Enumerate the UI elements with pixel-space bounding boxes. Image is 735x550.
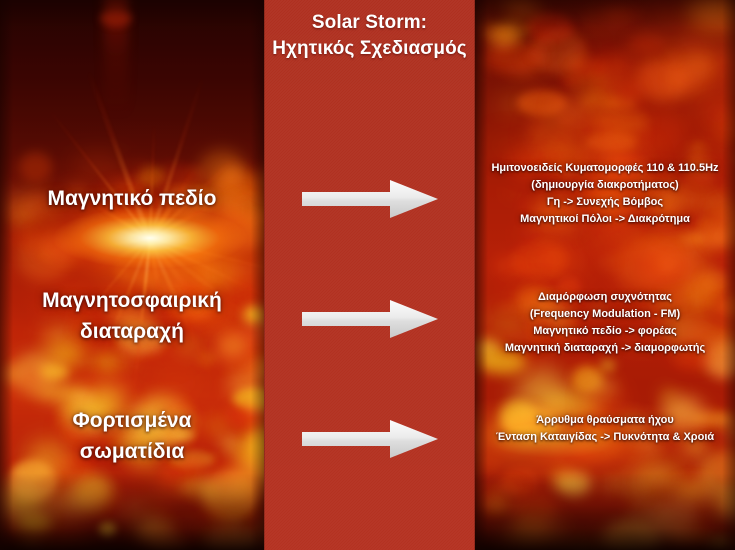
result-line: Ένταση Καταιγίδας -> Πυκνότητα & Χροιά: [475, 429, 735, 446]
result-line: (δημιουργία διακροτήματος): [475, 177, 735, 194]
result-line: Γη -> Συνεχής Βόμβος: [475, 194, 735, 211]
source-label-3-line2: σωματίδια: [0, 436, 264, 467]
result-line: Ημιτονοειδείς Κυματομορφές 110 & 110.5Hz: [475, 160, 735, 177]
source-label-3-line1: Φορτισμένα: [0, 405, 264, 436]
result-line: Άρρυθμα θραύσματα ήχου: [475, 412, 735, 429]
page-title-line2: Ηχητικός Σχεδιασμός: [264, 36, 475, 62]
result-block-2: Διαμόρφωση συχνότητας (Frequency Modulat…: [475, 289, 735, 357]
result-block-3: Άρρυθμα θραύσματα ήχου Ένταση Καταιγίδας…: [475, 412, 735, 446]
result-line: Μαγνητικοί Πόλοι -> Διακρότημα: [475, 211, 735, 228]
result-line: Μαγνητικό πεδίο -> φορέας: [475, 323, 735, 340]
result-line: Διαμόρφωση συχνότητας: [475, 289, 735, 306]
page-title-line1: Solar Storm:: [264, 10, 475, 36]
source-label-2-line2: διαταραχή: [0, 316, 264, 347]
right-vignette-edge: [475, 0, 735, 550]
source-label-2-line1: Μαγνητοσφαιρική: [0, 285, 264, 316]
source-label-1-line1: Μαγνητικό πεδίο: [48, 187, 217, 210]
page-title: Solar Storm: Ηχητικός Σχεδιασμός: [264, 10, 475, 62]
right-arrow-icon: [302, 418, 438, 460]
slide-root: Solar Storm: Ηχητικός Σχεδιασμός: [0, 0, 735, 550]
result-line: Μαγνητική διαταραχή -> διαμορφωτής: [475, 340, 735, 357]
right-arrow-icon: [302, 298, 438, 340]
result-line: (Frequency Modulation - FM): [475, 306, 735, 323]
source-label-2: Μαγνητοσφαιρική διαταραχή: [0, 285, 264, 347]
result-block-1: Ημιτονοειδείς Κυματομορφές 110 & 110.5Hz…: [475, 160, 735, 228]
left-vignette-edge: [0, 0, 264, 550]
source-label-1: Μαγνητικό πεδίο: [0, 183, 264, 214]
solar-surface-photo: [475, 0, 735, 550]
source-label-3: Φορτισμένα σωματίδια: [0, 405, 264, 467]
right-arrow-icon: [302, 178, 438, 220]
solar-flare-photo: [0, 0, 264, 550]
center-panel: Solar Storm: Ηχητικός Σχεδιασμός: [264, 0, 475, 550]
